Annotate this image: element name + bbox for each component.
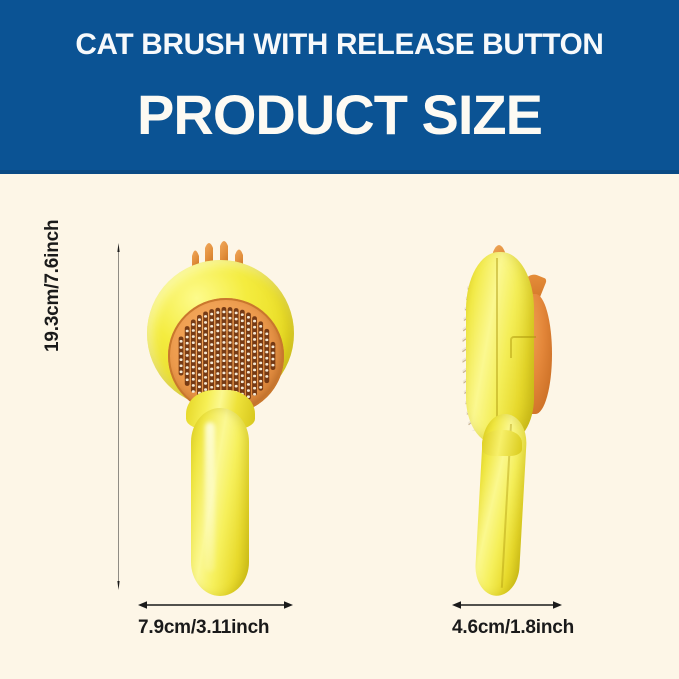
height-dimension-label: 19.3cm/7.6inch: [42, 220, 64, 352]
front-width-dimension-label: 7.9cm/3.11inch: [138, 617, 269, 639]
handle-highlight: [205, 422, 215, 572]
header-subtitle: CAT BRUSH WITH RELEASE BUTTON: [3, 28, 675, 62]
brush-side-view-image: [452, 238, 602, 596]
height-dimension-arrow: [117, 243, 120, 590]
side-width-dimension-arrow: [452, 600, 562, 610]
header-underline-divider: [0, 170, 679, 174]
side-width-dimension-label: 4.6cm/1.8inch: [452, 617, 574, 639]
body-seam-line: [496, 258, 498, 434]
brush-handle: [191, 408, 249, 596]
front-width-dimension-arrow: [138, 600, 293, 610]
body-notch-line: [510, 336, 536, 358]
product-size-infographic: CAT BRUSH WITH RELEASE BUTTON PRODUCT SI…: [0, 0, 679, 679]
page-title: PRODUCT SIZE: [0, 86, 679, 145]
brush-front-view-image: [142, 238, 302, 596]
brush-neck-side: [482, 430, 522, 456]
brush-head-body: [147, 260, 294, 407]
